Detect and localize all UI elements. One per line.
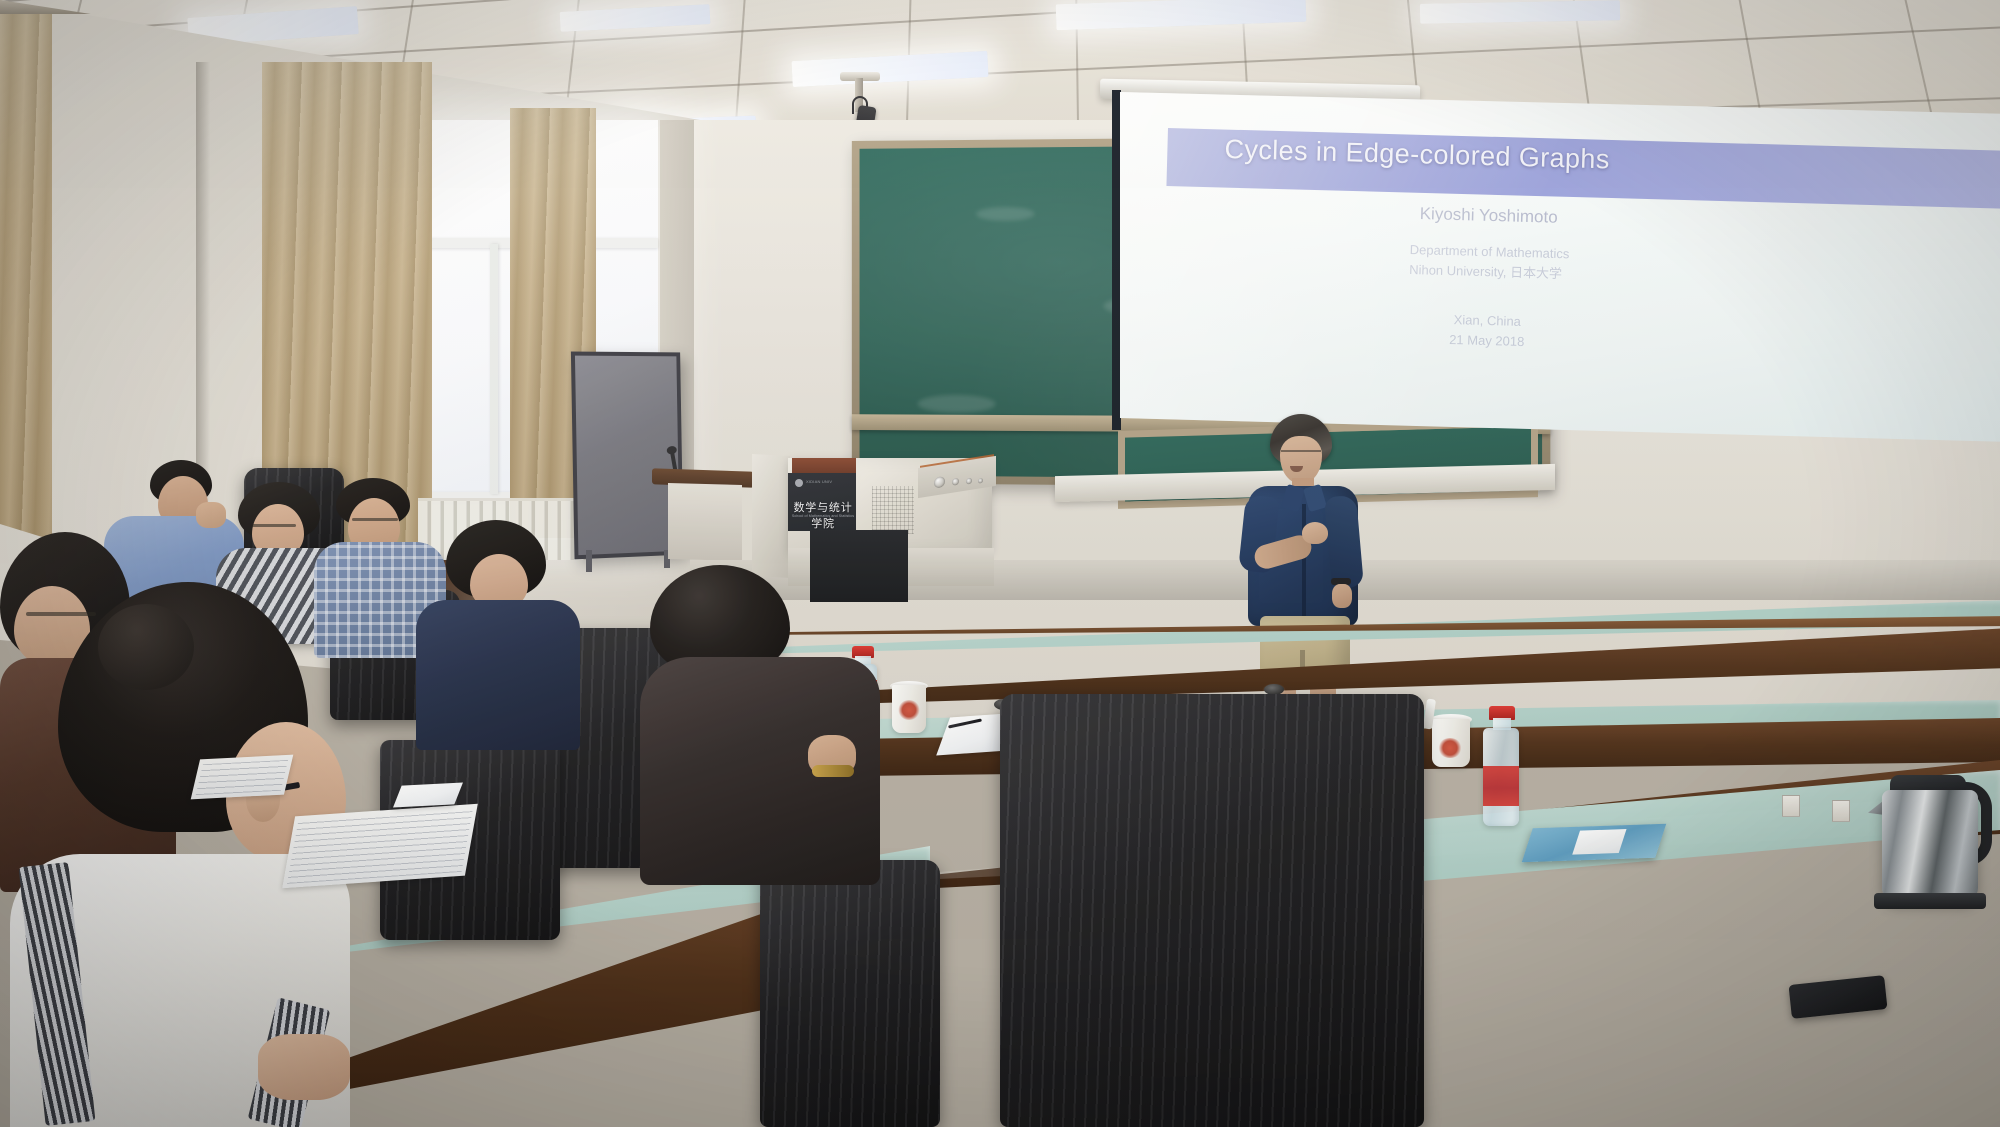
window-mullion-1 [490,244,498,494]
podium-vent-grille [872,486,914,534]
notebook-left[interactable] [191,755,294,800]
electric-kettle[interactable] [1882,790,1978,902]
glasses-icon-2 [252,524,296,527]
notebook-foreground[interactable] [282,804,478,888]
ceiling-light [791,51,988,87]
podium-accent-stripe [792,458,858,473]
glasses-icon [1281,450,1321,458]
projection-screen: Cycles in Edge-colored Graphs Kiyoshi Yo… [1120,92,2000,442]
curtain-far-left [0,0,52,540]
audience-member-5 [640,565,900,885]
slide-author: Kiyoshi Yoshimoto [1419,204,1557,228]
presenter-shirt-placket [1302,504,1306,624]
booklet-cover-graphic [1572,829,1626,855]
audience-member-4 [416,520,596,750]
control-knob-2[interactable] [952,478,959,486]
presenter-hand-right [1332,584,1352,608]
university-logo-text: XIDIAN UNIV [806,479,832,484]
audience-7-bun [98,604,194,690]
glasses-icon-3 [352,518,398,521]
podium-department-sign: XIDIAN UNIV 数学与统计学院 School of Mathematic… [788,473,858,531]
audience-5-bracelet [812,765,854,777]
audience-4-body [416,600,580,750]
audience-7-hand [258,1034,350,1100]
kettle-base [1874,893,1986,909]
control-knob-3[interactable] [966,478,972,485]
lectern-body [668,483,742,561]
slide-place: Xian, China [1449,310,1525,332]
control-knob-4[interactable] [978,478,983,484]
chair-front-right[interactable] [1000,694,1424,1127]
slide-affiliation-line2: Nihon University, 日本大学 [1409,259,1569,283]
wall-outlet-1[interactable] [1782,795,1800,817]
slide-affiliation: Department of Mathematics Nihon Universi… [1409,240,1570,283]
podium-sign-english: School of Mathematics and Statistics [788,514,858,518]
lecture-hall-photo: Cycles in Edge-colored Graphs Kiyoshi Yo… [0,0,2000,1127]
control-knob-1[interactable] [934,476,945,489]
podium-side-panel [752,454,790,578]
smartphone[interactable] [1788,975,1887,1019]
paper-stack-mid[interactable] [393,782,463,807]
chair-front-center[interactable] [760,860,940,1127]
notebook-ruling [287,809,473,884]
presenter-face [1280,436,1322,484]
ceiling-light [560,4,711,32]
ceiling-light [1420,0,1620,23]
presenter-hand-left [1302,522,1328,544]
paper-cup-print-1 [898,700,920,720]
notebook-ruling-2 [196,760,288,795]
paper-cup-print-2 [1438,738,1462,758]
ceiling-light [1056,0,1307,30]
screen-left-border [1112,90,1121,430]
bottle-label-2 [1483,766,1519,806]
conference-booklet[interactable] [1522,824,1667,863]
university-logo-icon [795,479,803,487]
wall-outlet-2[interactable] [1832,800,1850,822]
slide-venue: Xian, China 21 May 2018 [1449,310,1525,352]
ceiling-grid-line-h [0,0,2000,8]
slide-date: 21 May 2018 [1449,330,1525,352]
